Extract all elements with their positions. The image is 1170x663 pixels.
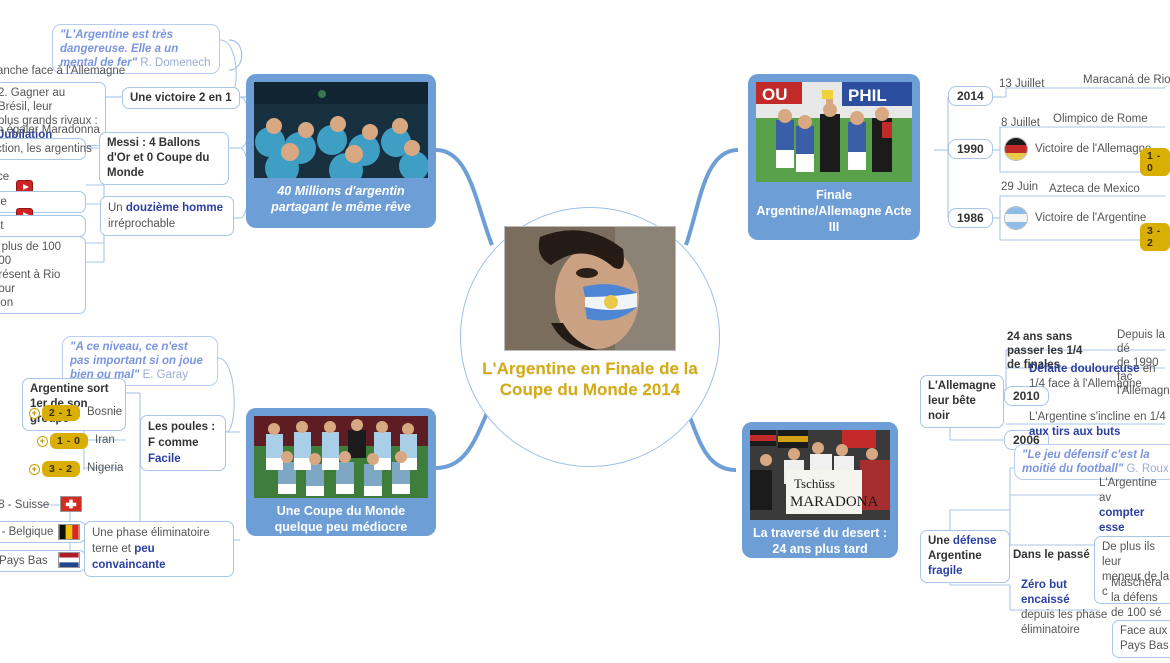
node-incline-tirs[interactable]: L'Argentine s'incline en 1/4 aux tirs au… [1026, 408, 1169, 442]
node-messi[interactable]: Messi : 4 Ballons d'Or et 0 Coupe du Mon… [99, 132, 229, 185]
group-team-iran[interactable]: Iran [92, 431, 118, 449]
card-fans-caption: 40 Millions d'argentin partagant le même… [254, 178, 428, 215]
node-frag2[interactable]: ue [0, 191, 86, 213]
netherlands-flag-icon [58, 552, 80, 568]
page-title: L'Argentine en Finale de la Coupe du Mon… [461, 358, 719, 400]
svg-text:PHIL: PHIL [848, 86, 887, 105]
card-finale[interactable]: OU PHIL Finale Argent [748, 74, 920, 240]
venue-2014[interactable]: Maracaná de Rio [1080, 71, 1170, 89]
year-1990[interactable]: 1990 [948, 139, 993, 159]
expand-icon[interactable]: + [29, 464, 40, 475]
quote-domenech-author: R. Domenech [140, 57, 210, 69]
mindmap-canvas: L'Argentine en Finale de la Coupe du Mon… [0, 0, 1170, 663]
node-mascherano[interactable]: Mascherа la défens de 100 sé [1108, 574, 1165, 623]
node-allemagne-bete-noir[interactable]: L'Allemagne leur bête noir [920, 375, 1004, 428]
card-finale-caption: Finale Argentine/Allemagne Acte III [756, 182, 912, 235]
card-finale-photo: OU PHIL [756, 82, 912, 182]
ko-suisse[interactable]: /8 - Suisse [0, 496, 52, 514]
node-frag3[interactable]: nt [0, 215, 86, 237]
node-douzieme-homme[interactable]: Un douzième homme irréprochable [100, 196, 234, 236]
node-revanche[interactable]: anche face à l'Allemagne [0, 62, 128, 80]
expand-icon[interactable]: + [29, 408, 40, 419]
germany-flag-icon [1004, 137, 1028, 161]
node-les-poules[interactable]: Les poules : F comme Facile [140, 415, 226, 471]
group-score-nigeria[interactable]: + 3 - 2 [42, 461, 80, 477]
group-team-bosnie[interactable]: Bosnie [84, 403, 125, 421]
card-squad-caption: Une Coupe du Monde quelque peu médiocre [254, 498, 428, 535]
venue-1990[interactable]: Olimpico de Rome [1050, 110, 1151, 128]
node-victoire-2en1[interactable]: Une victoire 2 en 1 [122, 87, 240, 109]
card-squad-photo [254, 416, 428, 498]
node-egaler-maradonna[interactable]: n égaler Maradonna [0, 121, 103, 139]
central-photo [504, 226, 676, 351]
svg-text:Tschüss: Tschüss [794, 476, 835, 491]
node-face-paysbas[interactable]: Face aux Pays Bas [1112, 620, 1170, 658]
date-1990[interactable]: 8 Juillet [998, 114, 1043, 132]
node-dans-le-passe[interactable]: Dans le passé [1010, 546, 1093, 564]
central-topic[interactable]: L'Argentine en Finale de la Coupe du Mon… [460, 207, 720, 467]
venue-1986[interactable]: Azteca de Mexico [1046, 180, 1143, 198]
year-1986[interactable]: 1986 [948, 208, 993, 228]
card-fans[interactable]: 40 Millions d'argentin partagant le même… [246, 74, 436, 228]
card-squad[interactable]: Une Coupe du Monde quelque peu médiocre [246, 408, 436, 536]
svg-text:MARADONA: MARADONA [790, 494, 879, 510]
switzerland-flag-icon [60, 496, 82, 512]
node-selection[interactable]: ction, les argentins [0, 138, 86, 160]
group-score-iran[interactable]: + 1 - 0 [50, 433, 88, 449]
expand-icon[interactable]: + [37, 436, 48, 447]
score-badge-1990[interactable]: 1 - 0 [1140, 148, 1170, 176]
node-zero-but[interactable]: Zéro but encaissé depuis les phase élimi… [1018, 576, 1114, 640]
result-1986[interactable]: Victoire de l'Argentine [1032, 209, 1149, 227]
node-defense-fragile[interactable]: Une défense Argentine fragile [920, 530, 1010, 583]
result-1990[interactable]: Victoire de l'Allemagne [1032, 140, 1154, 158]
group-team-nigeria[interactable]: Nigeria [84, 459, 126, 477]
node-frag1[interactable]: ce [0, 168, 12, 186]
card-fans-photo [254, 82, 428, 178]
card-desert-caption: La traversé du desert : 24 ans plus tard [750, 520, 890, 557]
card-desert-photo: Tschüss MARADONA [750, 430, 890, 520]
date-2014[interactable]: 13 Juillet [996, 75, 1047, 93]
node-defaite-douloureuse[interactable]: Défaite douloureuse en 1/4 face à l'Alle… [1026, 360, 1159, 394]
date-1986[interactable]: 29 Juin [998, 178, 1041, 196]
argentina-flag-icon [1004, 206, 1028, 230]
node-phase-eliminatoire[interactable]: Une phase éliminatoire terne et peu conv… [84, 521, 234, 577]
svg-text:OU: OU [762, 85, 788, 104]
node-rio-100000[interactable]: à plus de 100 000 présent à Rio pour sio… [0, 236, 86, 314]
quote-garay-author: E. Garay [143, 369, 188, 381]
year-2014[interactable]: 2014 [948, 86, 993, 106]
belgium-flag-icon [58, 524, 80, 540]
group-score-bosnie[interactable]: + 2 - 1 [42, 405, 80, 421]
card-desert[interactable]: Tschüss MARADONA La traversé du desert :… [742, 422, 898, 558]
score-badge-1986[interactable]: 3 - 2 [1140, 223, 1170, 251]
